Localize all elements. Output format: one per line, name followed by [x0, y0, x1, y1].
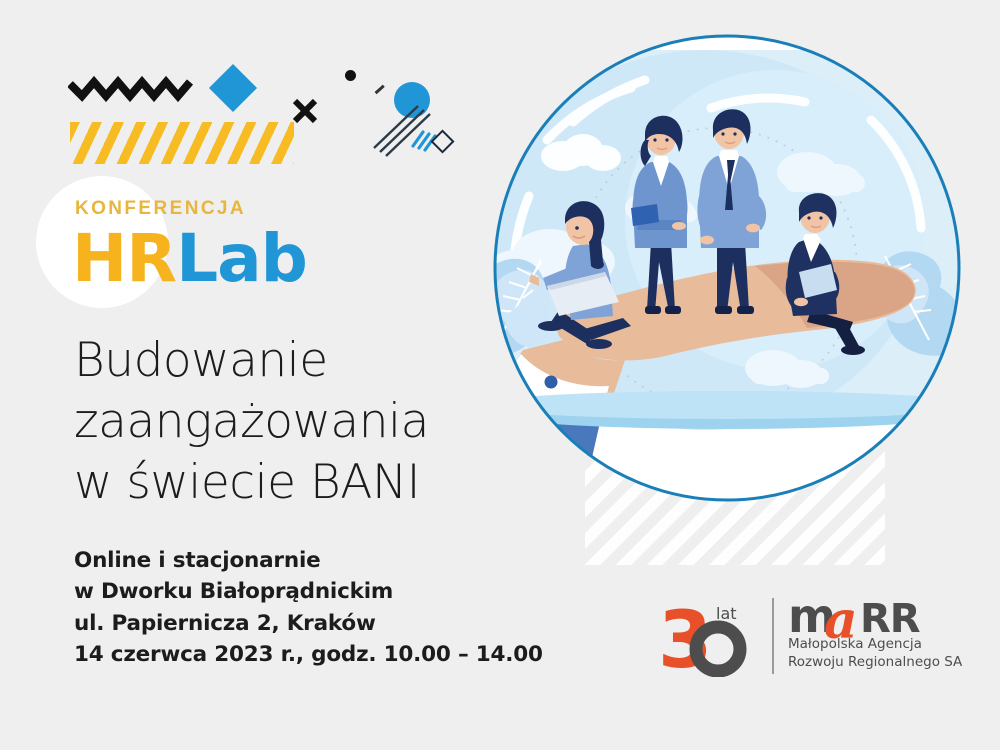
tagline-line-2: Rozwoju Regionalnego SA [788, 654, 962, 672]
headline-line-1: Budowanie [74, 330, 504, 391]
marr-tagline: Małopolska Agencja Rozwoju Regionalnego … [788, 636, 962, 672]
marr-logo: 3 lat m a RR Małopolska Agencja Rozwoju … [660, 592, 950, 684]
anniversary-30-lat-mark: 3 lat [660, 597, 760, 677]
details-line-venue: w Dworku Białoprądnickim [74, 576, 594, 607]
x-mark-icon [292, 98, 318, 124]
black-dot-icon [345, 70, 356, 81]
anniversary-lat-word: lat [716, 604, 737, 623]
zigzag-icon [68, 70, 194, 107]
brand-part-lab: Lab [176, 220, 307, 297]
blue-diamond-icon [209, 64, 257, 112]
yellow-stripes-decoration [70, 122, 294, 164]
details-line-datetime: 14 czerwca 2023 r., godz. 10.00 – 14.00 [74, 639, 594, 670]
marr-wordmark: m a RR [788, 592, 953, 642]
illustration-hand-holding-team [455, 10, 1000, 565]
headline-line-3: w świecie BANI [74, 452, 504, 513]
poster-canvas: KONFERENCJA HRLab Budowanie zaangażowani… [0, 0, 1000, 750]
tagline-line-1: Małopolska Agencja [788, 636, 962, 654]
brand-part-hr: HR [72, 220, 176, 297]
headline-line-2: zaangażowania [74, 391, 504, 452]
logo-divider [772, 598, 774, 674]
brand-logotype: HRLab [72, 226, 307, 292]
details-line-address: ul. Papiernicza 2, Kraków [74, 608, 594, 639]
eyebrow-label: KONFERENCJA [75, 198, 246, 220]
wordmark-a: a [824, 592, 858, 642]
page-title: Budowanie zaangażowania w świecie BANI [74, 330, 504, 513]
